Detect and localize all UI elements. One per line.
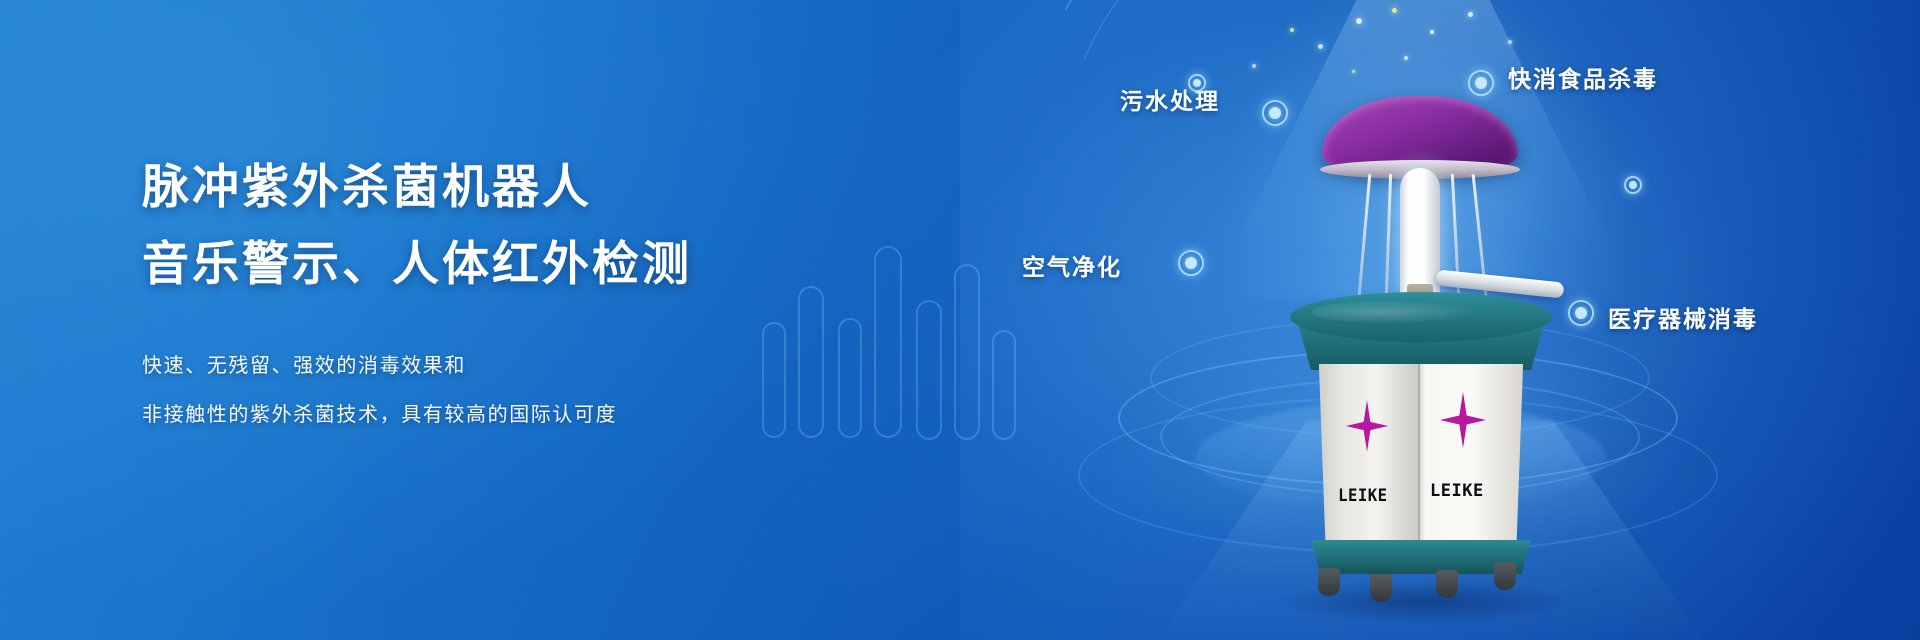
caster-wheel [1318, 568, 1340, 596]
sub-copy: 快速、无残留、强效的消毒效果和 非接触性的紫外杀菌技术，具有较高的国际认可度 [142, 341, 862, 439]
sparkle-5 [1290, 28, 1294, 32]
sparkle-4 [1318, 44, 1323, 49]
uv-disinfection-robot: LEIKE LEIKE [1240, 88, 1600, 588]
sub-copy-line-2: 非接触性的紫外杀菌技术，具有较高的国际认可度 [142, 390, 862, 439]
sparkle-3 [1430, 30, 1434, 34]
sparkle-6 [1468, 12, 1473, 17]
sparkle-1 [1356, 18, 1362, 24]
uv-lamp-tube [1400, 168, 1440, 298]
node-inner-dot-icon [1629, 181, 1637, 189]
feature-label-medical-disinfection: 医疗器械消毒 [1608, 300, 1758, 334]
caster-wheel [1494, 562, 1516, 590]
sparkle-10 [1352, 70, 1355, 73]
brand-wordmark-right: LEIKE [1430, 481, 1484, 501]
lamp-strut [1385, 174, 1392, 296]
wave-bar-5 [916, 300, 942, 440]
headline-primary: 脉冲紫外杀菌机器人 [142, 152, 862, 223]
chassis-body-edge [1418, 364, 1420, 546]
brand-wordmark-left: LEIKE [1338, 486, 1387, 506]
copy-block: 脉冲紫外杀菌机器人 音乐警示、人体红外检测 快速、无残留、强效的消毒效果和 非接… [142, 152, 862, 439]
chassis-body [1310, 364, 1532, 546]
node-marker-aux-2 [1624, 176, 1642, 194]
sparkle-9 [1508, 40, 1512, 44]
sparkle-8 [1404, 56, 1408, 60]
wave-bar-6 [954, 264, 980, 440]
node-inner-dot-icon [1193, 79, 1201, 87]
sparkle-7 [1252, 64, 1256, 68]
node-inner-dot-icon [1185, 257, 1197, 269]
wave-bar-4 [874, 246, 902, 438]
sub-copy-line-1: 快速、无残留、强效的消毒效果和 [142, 341, 862, 390]
feature-label-air-purification: 空气净化 [1022, 248, 1122, 282]
node-marker-air [1178, 250, 1204, 276]
chassis-top-highlight [1312, 300, 1482, 324]
headline-secondary: 音乐警示、人体红外检测 [142, 229, 862, 300]
promo-banner: 脉冲紫外杀菌机器人 音乐警示、人体红外检测 快速、无残留、强效的消毒效果和 非接… [0, 0, 1920, 640]
wave-bar-7 [992, 330, 1016, 440]
caster-wheel [1370, 574, 1392, 602]
node-marker-aux-1 [1188, 74, 1206, 92]
lamp-strut [1358, 174, 1372, 296]
caster-wheel [1436, 570, 1458, 598]
sparkle-2 [1392, 8, 1397, 13]
